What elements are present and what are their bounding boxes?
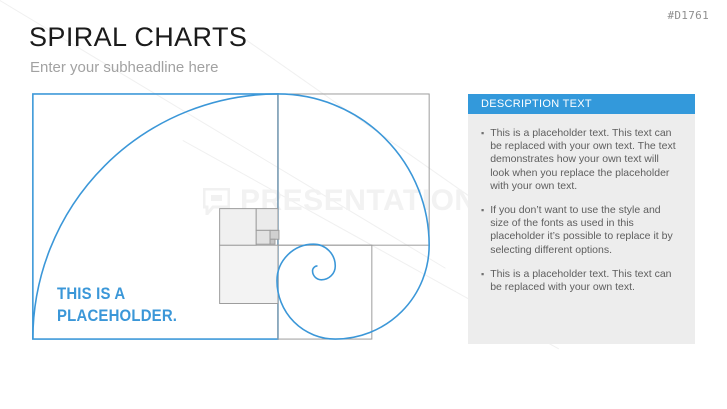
slide-id-label: #D1761 <box>667 9 709 22</box>
spiral-placeholder-text: THIS IS A PLACEHOLDER. <box>57 283 177 328</box>
description-bullet-text: If you don’t want to use the style and s… <box>490 204 681 257</box>
description-bullet-item: ▪This is a placeholder text. This text c… <box>481 268 681 294</box>
description-header-label: DESCRIPTION TEXT <box>481 98 592 110</box>
description-bullet-text: This is a placeholder text. This text ca… <box>490 127 681 193</box>
spiral-placeholder-line-1: THIS IS A <box>57 283 177 305</box>
bullet-marker-icon: ▪ <box>481 204 484 257</box>
spiral-square-8 <box>270 230 279 239</box>
page-subtitle: Enter your subheadline here <box>30 60 218 75</box>
description-header: DESCRIPTION TEXT <box>468 94 695 114</box>
spiral-square-6 <box>256 209 278 231</box>
spiral-square-4 <box>220 245 278 303</box>
page-title: SPIRAL CHARTS <box>29 24 247 51</box>
description-panel: DESCRIPTION TEXT ▪This is a placeholder … <box>468 94 695 344</box>
bullet-marker-icon: ▪ <box>481 127 484 193</box>
spiral-square-7 <box>256 230 270 244</box>
spiral-square-5 <box>220 209 257 246</box>
spiral-placeholder-line-2: PLACEHOLDER. <box>57 305 177 327</box>
spiral-square-3 <box>278 245 372 339</box>
description-bullet-item: ▪This is a placeholder text. This text c… <box>481 127 681 193</box>
description-body: ▪This is a placeholder text. This text c… <box>468 114 695 294</box>
description-bullet-text: This is a placeholder text. This text ca… <box>490 268 681 294</box>
spiral-square-2 <box>278 94 429 245</box>
bullet-marker-icon: ▪ <box>481 268 484 294</box>
description-bullet-item: ▪If you don’t want to use the style and … <box>481 204 681 257</box>
spiral-square-9 <box>270 239 275 244</box>
